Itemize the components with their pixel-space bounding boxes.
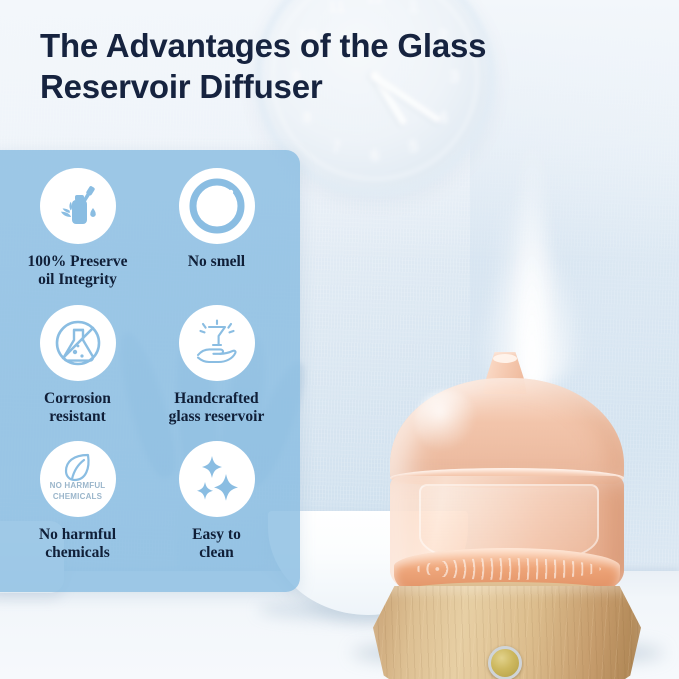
- feature-label: Handcrafted glass reservoir: [169, 390, 265, 426]
- clock-number: 1: [409, 0, 418, 17]
- clock-number: 5: [409, 137, 418, 157]
- feature-item-easy-to-clean: Easy to clean: [147, 441, 286, 578]
- clock-number: 12: [366, 0, 385, 8]
- oil-dropper-leaf-icon: [40, 168, 116, 244]
- lid-highlight: [415, 390, 477, 452]
- no-smell-icon: [179, 168, 255, 244]
- feature-label: No smell: [188, 253, 245, 271]
- feature-label: Corrosion resistant: [44, 390, 111, 426]
- feature-item-no-smell: No smell: [147, 168, 286, 305]
- hand-holding-glass-icon: [179, 305, 255, 381]
- sparkles-icon: [179, 441, 255, 517]
- feature-label: 100% Preserve oil Integrity: [28, 253, 128, 289]
- feature-label: No harmful chemicals: [39, 526, 116, 562]
- feature-item-handcrafted-glass: Handcrafted glass reservoir: [147, 305, 286, 442]
- nozzle-opening: [493, 354, 517, 363]
- leaf-no-chemicals-icon: NO HARMFUL CHEMICALS: [40, 441, 116, 517]
- feature-label: Easy to clean: [192, 526, 241, 562]
- product-feature-image: 12 1 2 3 4 5 6 7 8 9 10 11: [0, 0, 679, 679]
- glass-reservoir-diffuser: [371, 352, 643, 652]
- feature-item-preserve-oil-integrity: 100% Preserve oil Integrity: [8, 168, 147, 305]
- clock-number: 7: [332, 137, 341, 157]
- page-title: The Advantages of the Glass Reservoir Di…: [40, 26, 600, 108]
- title-line-2: Reservoir Diffuser: [40, 67, 600, 108]
- features-grid: 100% Preserve oil Integrity: [8, 168, 286, 578]
- badge-inner-text: NO HARMFUL CHEMICALS: [40, 481, 116, 501]
- clock-number: 11: [328, 0, 346, 17]
- clock-number: 6: [370, 146, 379, 166]
- water-bubbles: [415, 558, 601, 580]
- clock-number: 8: [302, 108, 311, 128]
- title-line-1: The Advantages of the Glass: [40, 26, 600, 67]
- feature-item-no-harmful-chemicals: NO HARMFUL CHEMICALS No harmful chemical…: [8, 441, 147, 578]
- feature-item-corrosion-resistant: Corrosion resistant: [8, 305, 147, 442]
- power-button[interactable]: [488, 646, 522, 679]
- features-panel: 100% Preserve oil Integrity: [0, 150, 300, 592]
- no-corrosion-flask-icon: [40, 305, 116, 381]
